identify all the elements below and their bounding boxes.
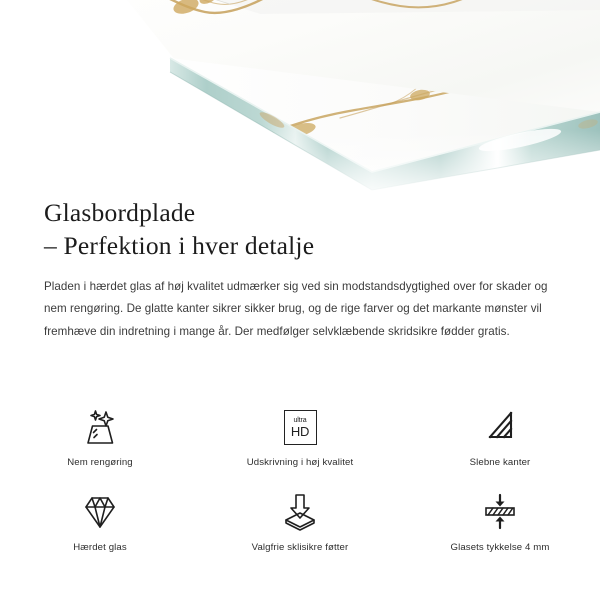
ultra-hd-icon: ultra HD: [284, 406, 317, 448]
feature-grid: Nem rengøring ultra HD Udskrivning i høj…: [0, 398, 600, 568]
ultra-hd-badge-bottom: HD: [291, 425, 309, 438]
product-description-page: Glasbordplade – Perfektion i hver detalj…: [0, 0, 600, 600]
page-title: Glasbordplade – Perfektion i hver detalj…: [0, 196, 600, 262]
page-title-line-1: Glasbordplade: [44, 196, 556, 229]
glass-thickness-icon: [480, 491, 520, 533]
feature-item-print-quality: ultra HD Udskrivning i høj kvalitet: [200, 398, 400, 483]
feature-item-tempered-glass: Hærdet glas: [0, 483, 200, 568]
page-title-line-2: – Perfektion i hver detalje: [44, 229, 556, 262]
ultra-hd-badge-top: ultra: [293, 417, 306, 424]
feature-label-easy-cleaning: Nem rengøring: [67, 457, 133, 469]
polished-edges-icon: [480, 406, 520, 448]
sparkle-glass-icon: [77, 406, 123, 448]
diamond-icon: [78, 491, 122, 533]
text-content: Glasbordplade – Perfektion i hver detalj…: [0, 196, 600, 343]
feature-item-anti-slip-feet: Valgfrie sklisikre føtter: [200, 483, 400, 568]
feature-label-anti-slip-feet: Valgfrie sklisikre føtter: [252, 542, 349, 554]
ultra-hd-badge: ultra HD: [284, 410, 317, 445]
feature-item-easy-cleaning: Nem rengøring: [0, 398, 200, 483]
anti-slip-feet-icon: [278, 491, 322, 533]
hero-product-image: [0, 0, 600, 200]
feature-label-polished-edges: Slebne kanter: [470, 457, 531, 469]
feature-item-glass-thickness: Glasets tykkelse 4 mm: [400, 483, 600, 568]
feature-label-tempered-glass: Hærdet glas: [73, 542, 127, 554]
feature-item-polished-edges: Slebne kanter: [400, 398, 600, 483]
glass-panel-illustration: [0, 0, 600, 200]
feature-label-glass-thickness: Glasets tykkelse 4 mm: [450, 542, 549, 554]
product-description-paragraph: Pladen i hærdet glas af høj kvalitet udm…: [0, 262, 600, 343]
feature-label-print-quality: Udskrivning i høj kvalitet: [247, 457, 354, 469]
